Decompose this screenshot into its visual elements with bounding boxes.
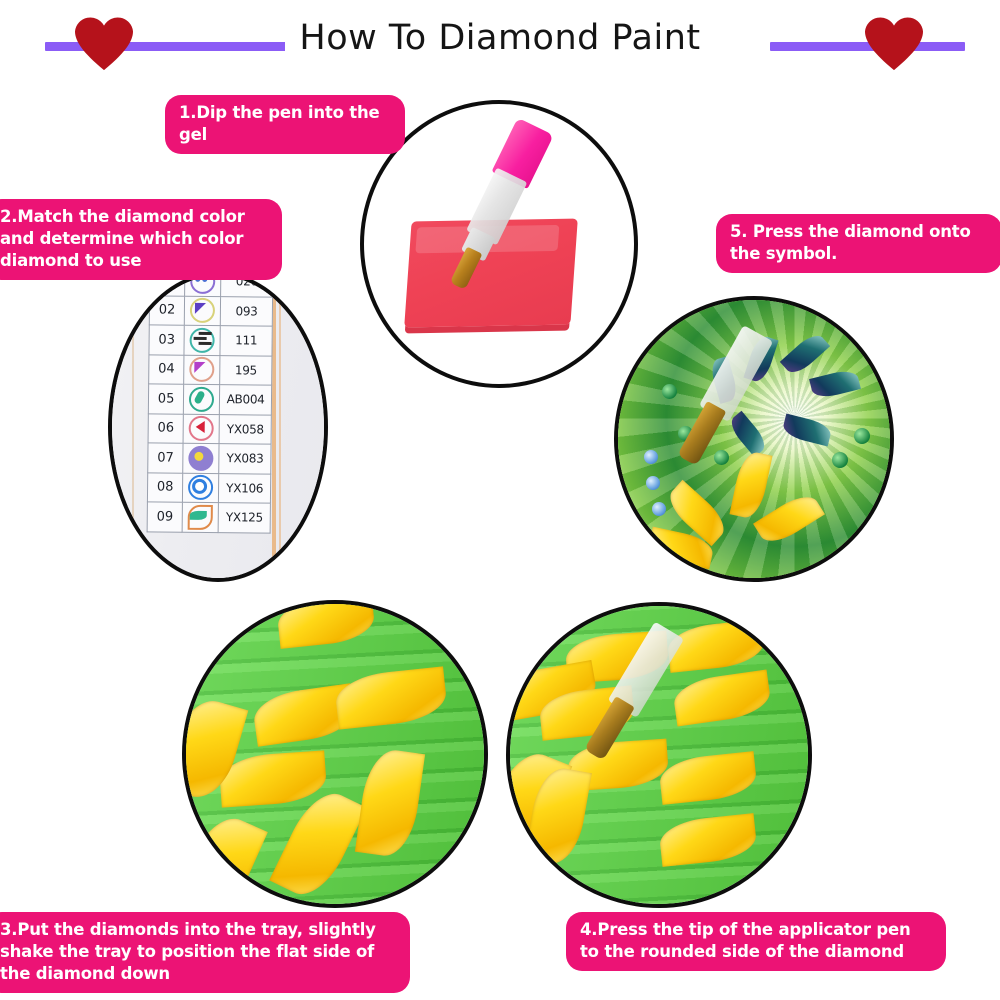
symbol-chart-row: 04195 [149,354,272,385]
photo-place-on-canvas [614,296,894,582]
triangle-symbol [184,355,220,385]
triangle-symbol-glyph [195,303,206,314]
dot-circle-symbol [189,446,214,471]
canvas-symbol-dot [714,450,729,465]
infographic-page: How To Diamond Paint 1.Dip the pen into … [0,0,1000,1000]
ring-symbol [188,475,213,500]
plus-symbol [190,328,215,353]
slash-oval-symbol [189,387,214,412]
symbol-chart-code: 195 [220,355,272,385]
arrow-left-symbol-glyph [196,421,205,433]
photo-diamonds-in-tray [182,600,488,908]
dot-circle-symbol [183,443,219,473]
triangle-symbol-glyph [195,362,206,373]
page-title-text: How To Diamond Paint [285,18,714,58]
symbol-chart-row: 06YX058 [148,413,271,444]
symbol-chart-number: 07 [148,443,184,473]
symbol-chart-table: 02002093031110419505AB00406YX05807YX0830… [147,276,274,533]
step-5-label: 5. Press the diamond onto the symbol. [716,214,1000,273]
page-header: How To Diamond Paint [0,0,1000,90]
symbol-chart-row: 07YX083 [148,443,271,474]
plus-symbol-glyph [194,337,207,340]
symbol-chart-number: 06 [148,413,184,443]
leaf-symbol [188,505,213,530]
ring-symbol [183,473,219,503]
symbol-chart-code: YX106 [219,473,271,503]
photo-symbol-chart: 02002093031110419505AB00406YX05807YX0830… [108,272,328,582]
triangle-symbol [189,357,214,382]
canvas-symbol-dot [652,502,666,516]
arrow-left-symbol [189,416,214,441]
triangle-symbol [185,296,221,326]
symbol-chart-code: YX083 [219,444,271,474]
symbol-chart-code: 111 [220,326,272,356]
photo-pen-picks-diamond [506,602,812,908]
triangle-symbol [190,298,215,323]
canvas-symbol-dot [832,452,848,468]
step-2-label: 2.Match the diamond color and determine … [0,199,282,280]
symbol-chart-code: YX125 [218,503,270,533]
symbol-chart-row: 08YX106 [147,472,270,503]
canvas-symbol-dot [854,428,870,444]
symbol-chart-code: AB004 [220,385,272,415]
canvas-symbol-dot [662,384,677,399]
paper-edge-stripe [132,276,134,578]
canvas-symbol-dot [646,476,660,490]
leaf-symbol-glyph [190,511,207,520]
symbol-chart-row: 09YX125 [147,502,270,533]
ring-symbol-glyph [192,479,207,494]
pen-tip [450,247,483,290]
step-3-label: 3.Put the diamonds into the tray, slight… [0,912,410,993]
page-title: How To Diamond Paint [0,18,1000,58]
slash-oval-symbol [184,384,220,414]
symbol-chart-row: 05AB004 [148,384,271,415]
slash-oval-symbol-glyph [194,390,206,405]
leaf-symbol [182,502,218,532]
symbol-chart-number: 09 [147,502,183,532]
symbol-chart-code: YX058 [219,414,271,444]
paper-edge-stripe [279,276,281,578]
symbol-chart-number: 04 [149,354,185,384]
symbol-chart-row: 03111 [149,325,272,356]
plus-symbol [184,325,220,355]
symbol-chart-number: 08 [147,472,183,502]
symbol-chart-code: 093 [221,296,273,326]
symbol-chart-number: 03 [149,325,185,355]
symbol-chart-row: 02093 [149,295,272,326]
step-4-label: 4.Press the tip of the applicator pen to… [566,912,946,971]
arrow-left-symbol [183,414,219,444]
symbol-chart-number: 05 [148,384,184,414]
canvas-symbol-dot [644,450,658,464]
symbol-chart-number: 02 [149,295,185,325]
symbol-chart-body: 02002093031110419505AB00406YX05807YX0830… [147,276,273,533]
step-1-label: 1.Dip the pen into the gel [165,95,405,154]
dot-circle-symbol-glyph [195,452,204,461]
